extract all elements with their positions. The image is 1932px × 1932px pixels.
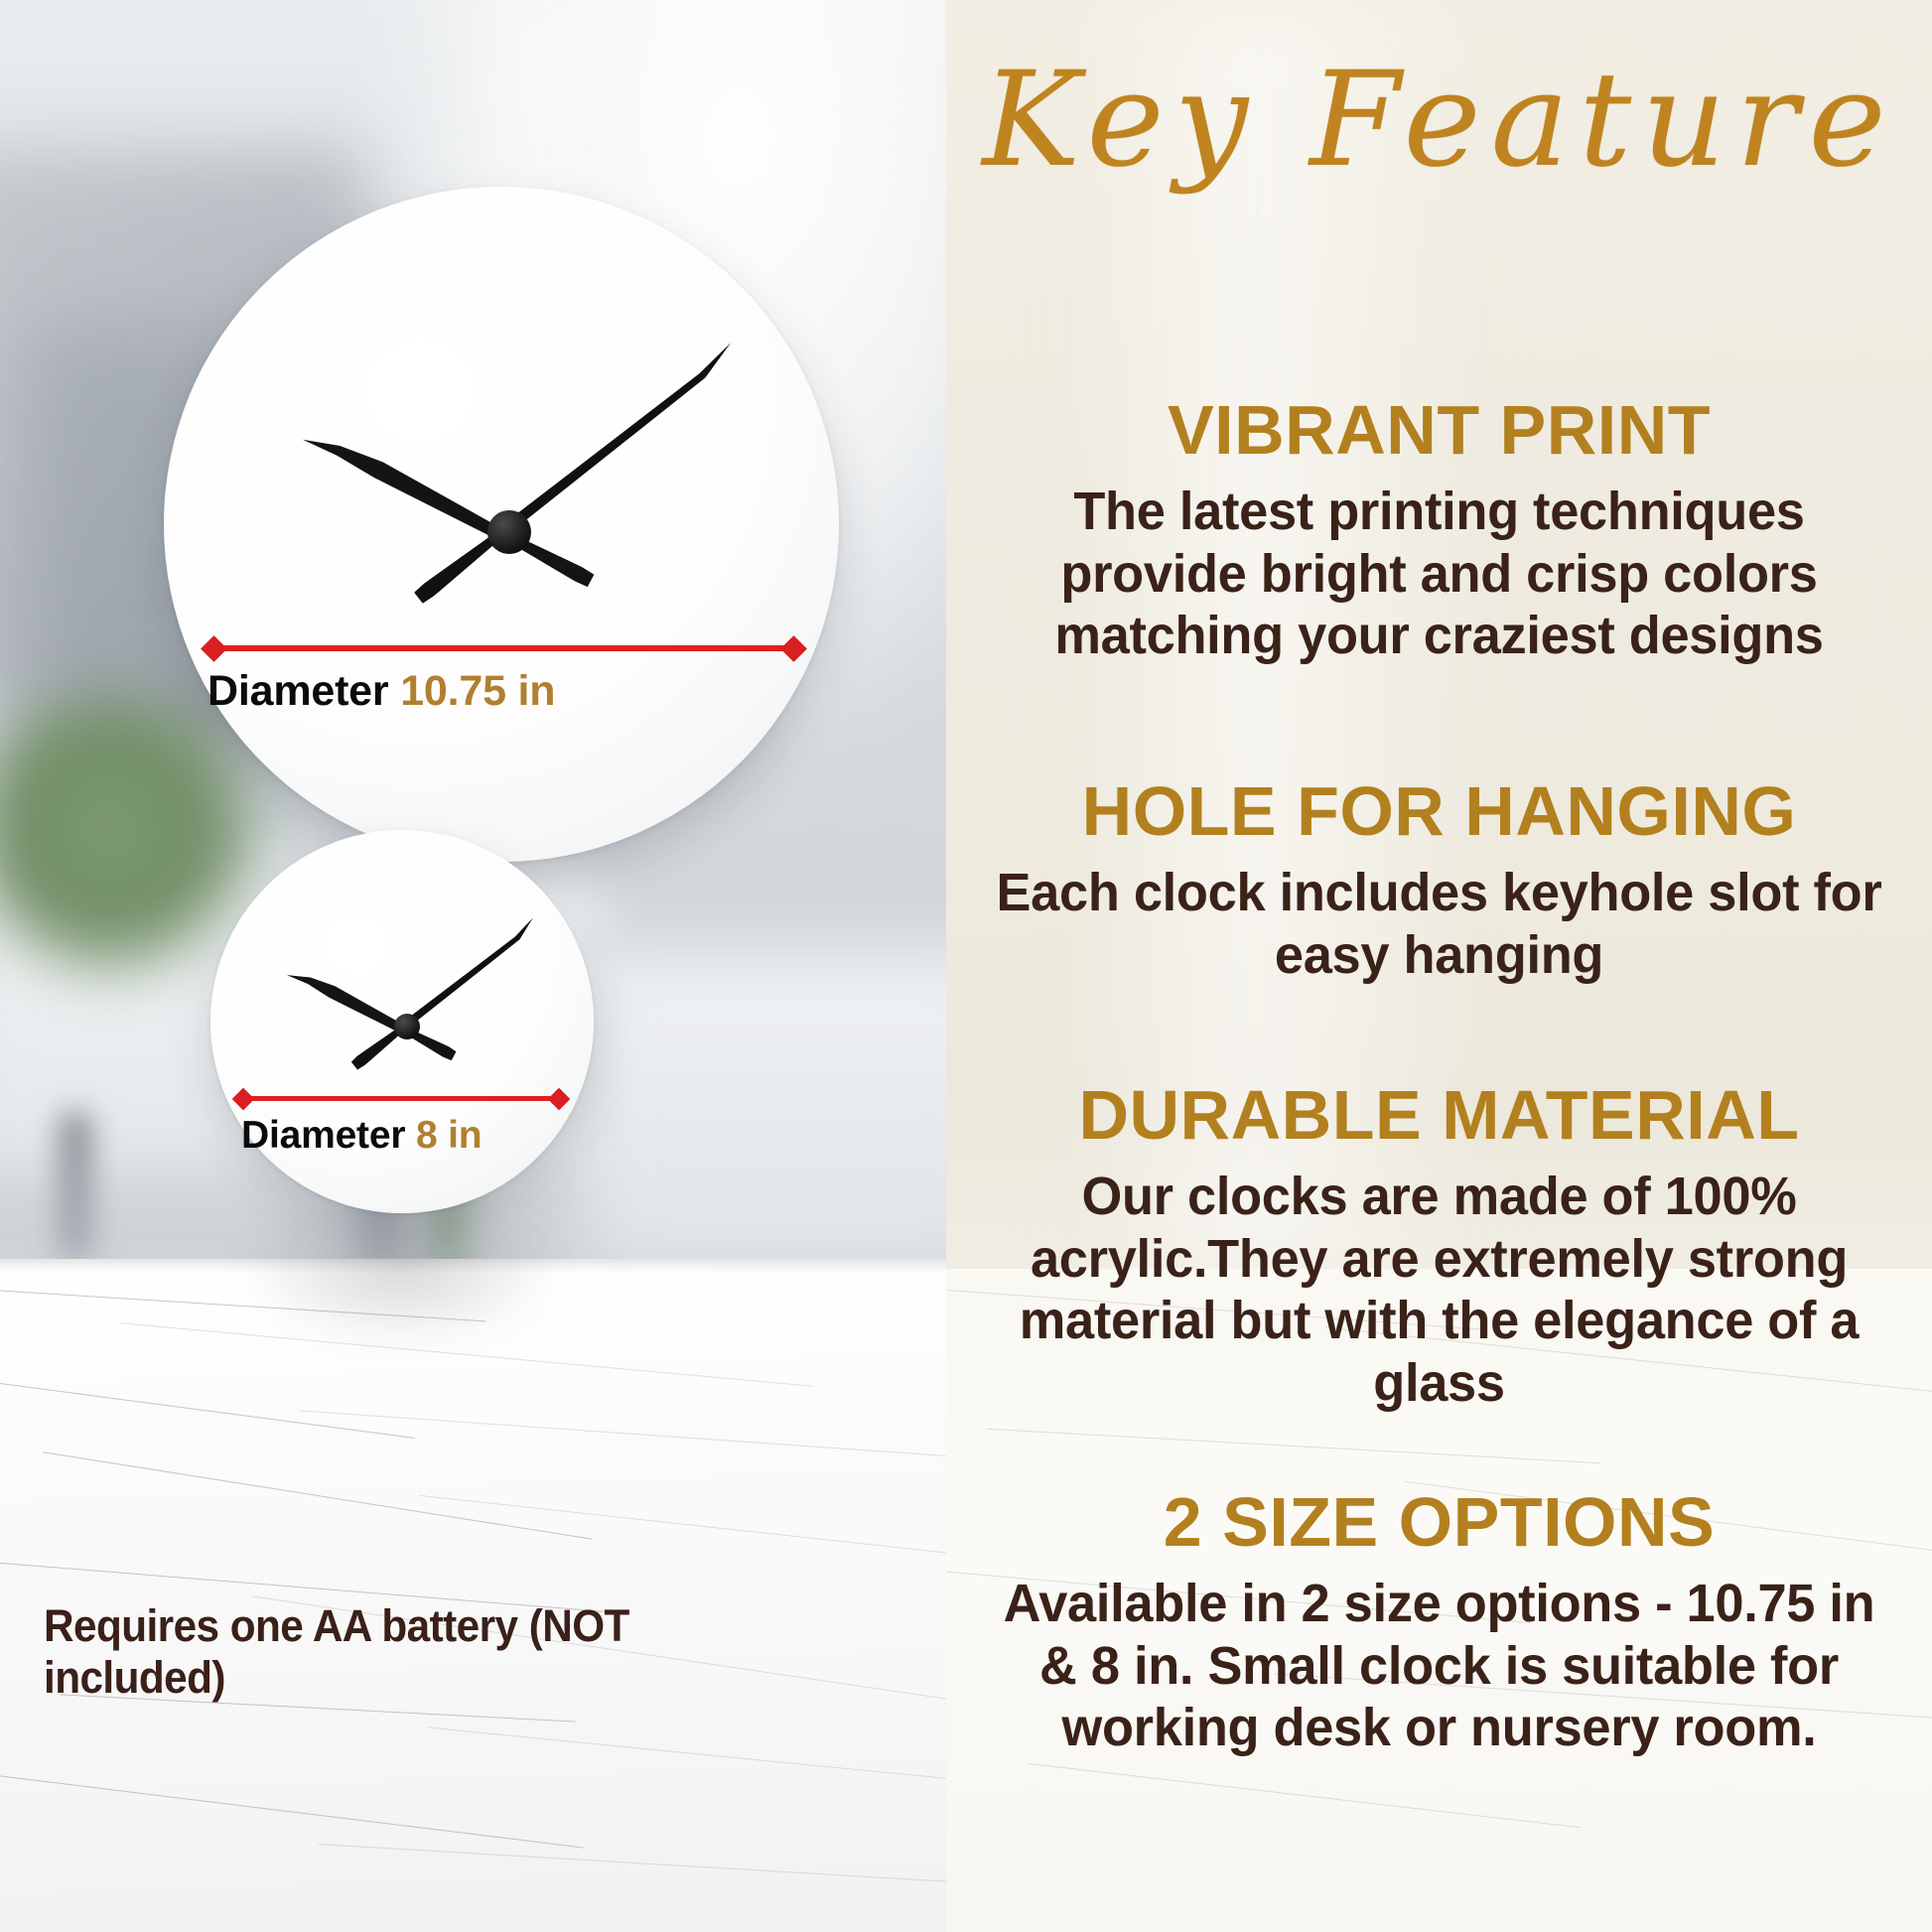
- small-clock-dimension-cap-left: [232, 1088, 255, 1111]
- feature-body: Our clocks are made of 100% acrylic.They…: [978, 1166, 1899, 1415]
- large-clock: Diameter 10.75 in: [164, 187, 839, 862]
- large-clock-dimension-cap-left: [201, 635, 227, 662]
- feature-body: Available in 2 size options - 10.75 in &…: [978, 1573, 1899, 1759]
- large-clock-dimension-label: Diameter 10.75 in: [207, 667, 555, 716]
- feature-block-durable-material: DURABLE MATERIAL Our clocks are made of …: [964, 1080, 1914, 1415]
- blurred-bottle-left: [58, 1112, 93, 1261]
- feature-block-hole-for-hanging: HOLE FOR HANGING Each clock includes key…: [964, 776, 1914, 986]
- product-infographic: Diameter 10.75 in: [0, 0, 1932, 1932]
- large-clock-dimension-word: Diameter: [207, 667, 388, 715]
- small-clock-minute-hand: [398, 917, 540, 1032]
- battery-requirement-note: Requires one AA battery (NOT included): [44, 1600, 716, 1704]
- feature-heading: HOLE FOR HANGING: [964, 776, 1914, 846]
- feature-body: The latest printing techniques provide b…: [978, 481, 1899, 667]
- large-clock-dimension-cap-right: [780, 635, 807, 662]
- small-clock-dimension-cap-right: [548, 1088, 571, 1111]
- feature-heading: VIBRANT PRINT: [964, 395, 1914, 465]
- large-clock-dimension-line: [213, 645, 793, 651]
- large-clock-center-hub: [487, 510, 531, 554]
- feature-block-vibrant-print: VIBRANT PRINT The latest printing techni…: [964, 395, 1914, 667]
- feature-body: Each clock includes keyhole slot for eas…: [978, 862, 1899, 986]
- blurred-chairs: [586, 953, 946, 1271]
- small-clock: Diameter 8 in: [210, 830, 594, 1213]
- key-feature-panel: Key Feature VIBRANT PRINT The latest pri…: [946, 0, 1932, 1932]
- feature-heading: DURABLE MATERIAL: [964, 1080, 1914, 1150]
- small-clock-center-hub: [394, 1014, 420, 1039]
- large-clock-minute-hand: [496, 343, 742, 539]
- small-clock-hour-hand: [286, 963, 405, 1035]
- marble-countertop: [0, 1259, 946, 1932]
- large-clock-hour-hand: [302, 422, 506, 545]
- feature-heading: 2 SIZE OPTIONS: [964, 1487, 1914, 1557]
- key-feature-title: Key Feature: [946, 52, 1932, 190]
- small-clock-dimension-line: [243, 1096, 559, 1101]
- product-photo-panel: Diameter 10.75 in: [0, 0, 946, 1932]
- small-clock-dimension-value: 8 in: [416, 1114, 482, 1157]
- small-clock-dimension-word: Diameter: [241, 1114, 405, 1157]
- large-clock-dimension-value: 10.75 in: [400, 667, 555, 715]
- small-clock-dimension-label: Diameter 8 in: [241, 1114, 482, 1158]
- feature-block-2-size-options: 2 SIZE OPTIONS Available in 2 size optio…: [964, 1487, 1914, 1759]
